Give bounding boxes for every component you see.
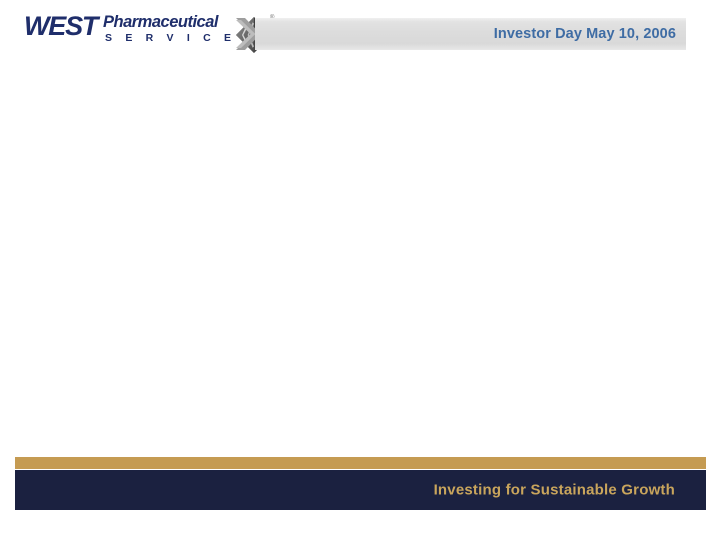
- west-pharmaceutical-logo: WEST Pharmaceutical S E R V I C E S: [24, 11, 259, 51]
- presentation-slide: WEST Pharmaceutical S E R V I C E S: [0, 0, 720, 540]
- footer-gold-rule: [15, 457, 706, 469]
- slide-footer: Investing for Sustainable Growth: [0, 452, 720, 540]
- slide-content-area: [0, 62, 720, 452]
- header-banner-title: Investor Day May 10, 2006: [494, 26, 676, 42]
- footer-navy-band: Investing for Sustainable Growth: [15, 470, 706, 510]
- logo-text-pharmaceutical: Pharmaceutical: [103, 13, 218, 31]
- header-banner-bar: Investor Day May 10, 2006: [255, 18, 686, 50]
- slide-header: WEST Pharmaceutical S E R V I C E S: [0, 0, 720, 62]
- footer-tagline: Investing for Sustainable Growth: [434, 482, 675, 499]
- logo-text-services: S E R V I C E S: [105, 32, 257, 44]
- logo-wordmark-west: WEST: [24, 12, 97, 40]
